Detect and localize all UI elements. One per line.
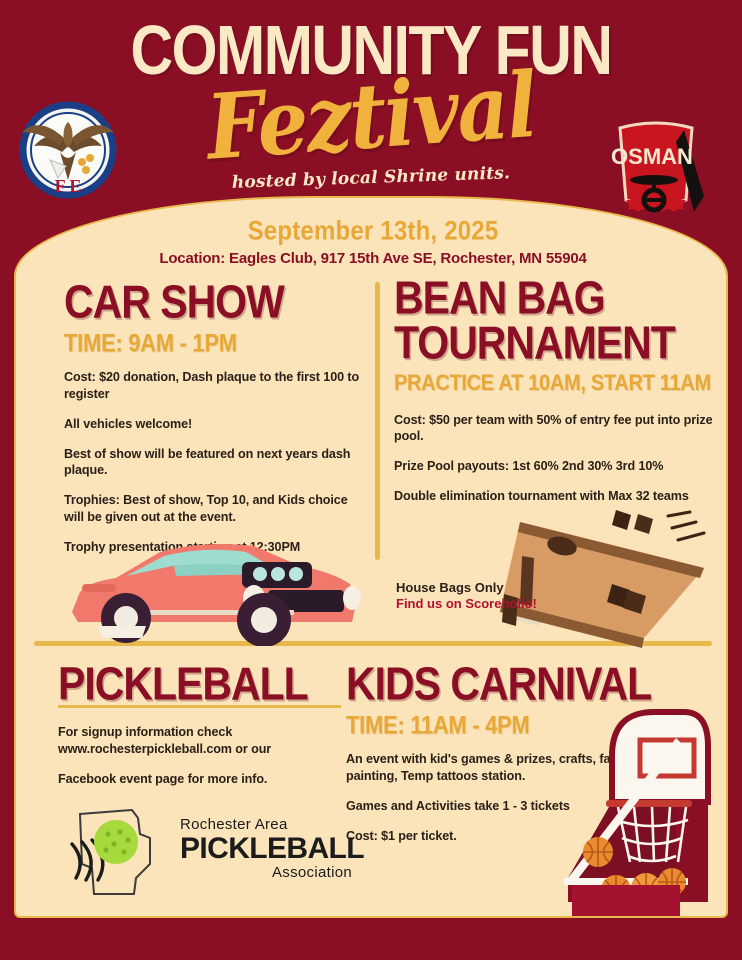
- pba-line-1: Rochester Area: [180, 816, 364, 833]
- pba-line-3: Association: [180, 864, 352, 881]
- pba-line-2: PICKLEBALL: [180, 834, 364, 864]
- bean-bag-line-2: Prize Pool payouts: 1st 60% 2nd 30% 3rd …: [394, 458, 716, 475]
- house-bags-line-1: House Bags Only: [396, 580, 537, 596]
- pickleball-line-1: For signup information check www.rochest…: [58, 724, 358, 757]
- poster-header: COMMUNITY FUN Feztival hosted by local S…: [0, 0, 742, 236]
- bean-bag-time: PRACTICE AT 10AM, START 11AM: [394, 371, 716, 397]
- foe-logo-letters: F E: [55, 176, 82, 196]
- pickleball-body: For signup information check www.rochest…: [58, 724, 358, 787]
- flyer-root: COMMUNITY FUN Feztival hosted by local S…: [0, 0, 742, 960]
- vertical-divider: [375, 282, 380, 560]
- foe-eagle-logo: F E: [14, 88, 122, 200]
- car-show-line-1: Cost: $20 donation, Dash plaque to the f…: [64, 369, 364, 402]
- bean-bag-body: Cost: $50 per team with 50% of entry fee…: [394, 412, 716, 505]
- pickleball-association-logo: Rochester Area PICKLEBALL Association: [58, 808, 310, 904]
- car-show-line-2: All vehicles welcome!: [64, 416, 364, 433]
- basketball-hoop-illustration: [558, 702, 728, 918]
- kids-carnival-title: KIDS CARNIVAL: [346, 662, 706, 707]
- section-car-show: CAR SHOW TIME: 9AM - 1PM Cost: $20 donat…: [64, 280, 364, 568]
- bean-bag-title-line-2: TOURNAMENT: [394, 321, 716, 366]
- event-location: Location: Eagles Club, 917 15th Ave SE, …: [16, 250, 728, 267]
- cornhole-board-illustration: [494, 498, 728, 648]
- section-pickleball: PICKLEBALL For signup information check …: [58, 662, 358, 801]
- pickleball-line-2: Facebook event page for more info.: [58, 771, 358, 788]
- car-show-line-3: Best of show will be featured on next ye…: [64, 446, 364, 479]
- osman-fez-logo: OSMAN: [600, 112, 712, 218]
- car-show-time: TIME: 9AM - 1PM: [64, 329, 364, 358]
- content-panel: September 13th, 2025 Location: Eagles Cl…: [14, 196, 728, 918]
- bean-bag-title-line-1: BEAN BAG: [394, 276, 716, 321]
- bean-bag-line-1: Cost: $50 per team with 50% of entry fee…: [394, 412, 716, 445]
- osman-fez-label: OSMAN: [611, 144, 693, 169]
- muscle-car-illustration: [64, 526, 364, 646]
- pickleball-logo-text: Rochester Area PICKLEBALL Association: [180, 816, 364, 881]
- section-bean-bag-tournament: BEAN BAG TOURNAMENT PRACTICE AT 10AM, ST…: [394, 276, 716, 518]
- car-show-title: CAR SHOW: [64, 280, 364, 325]
- scoreholio-line: Find us on Scoreholio!: [396, 596, 537, 612]
- house-bags-note: House Bags Only Find us on Scoreholio!: [396, 580, 537, 613]
- pickleball-title: PICKLEBALL: [58, 662, 358, 707]
- car-show-line-4: Trophies: Best of show, Top 10, and Kids…: [64, 492, 364, 525]
